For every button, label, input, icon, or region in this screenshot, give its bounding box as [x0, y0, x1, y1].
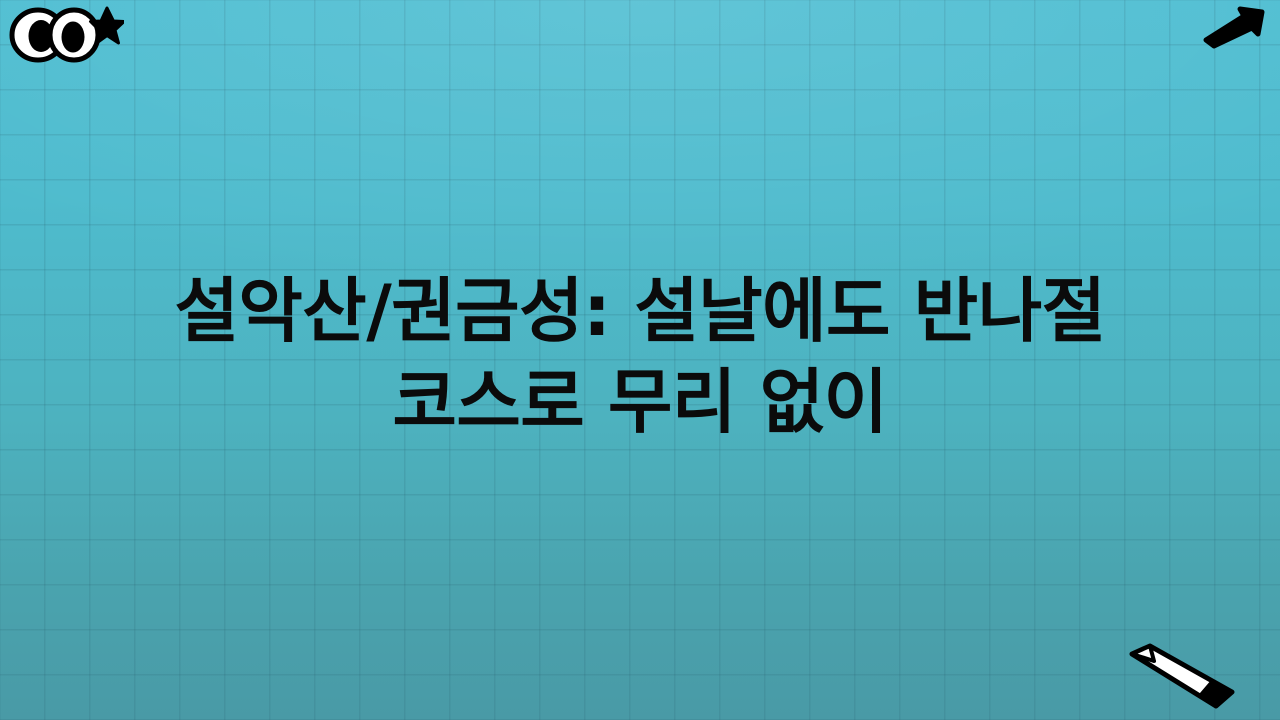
title-block: 설악산/권금성: 설날에도 반나절 코스로 무리 없이 — [0, 0, 1280, 720]
page-title: 설악산/권금성: 설날에도 반나절 코스로 무리 없이 — [140, 266, 1140, 448]
slide-canvas: 설악산/권금성: 설날에도 반나절 코스로 무리 없이 — [0, 0, 1280, 720]
